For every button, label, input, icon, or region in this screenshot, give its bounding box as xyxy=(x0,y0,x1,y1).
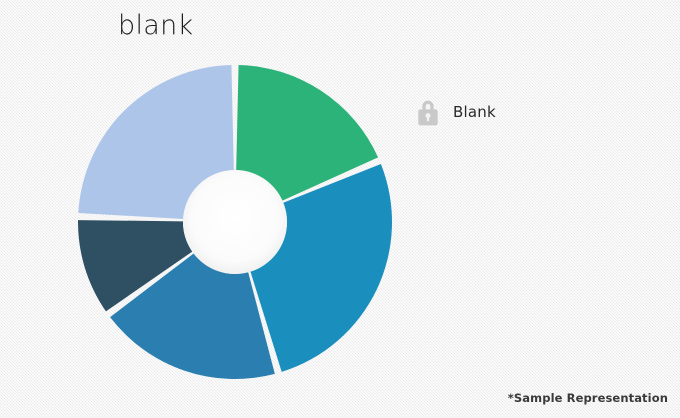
donut-center-hole xyxy=(183,170,287,274)
legend-label: Blank xyxy=(453,103,496,121)
footnote-sample-representation: *Sample Representation xyxy=(508,391,668,405)
donut-chart xyxy=(74,62,396,384)
donut-chart-svg xyxy=(74,62,396,384)
lock-icon xyxy=(414,96,442,128)
page-title: blank xyxy=(118,10,193,41)
legend: Blank xyxy=(414,96,496,128)
